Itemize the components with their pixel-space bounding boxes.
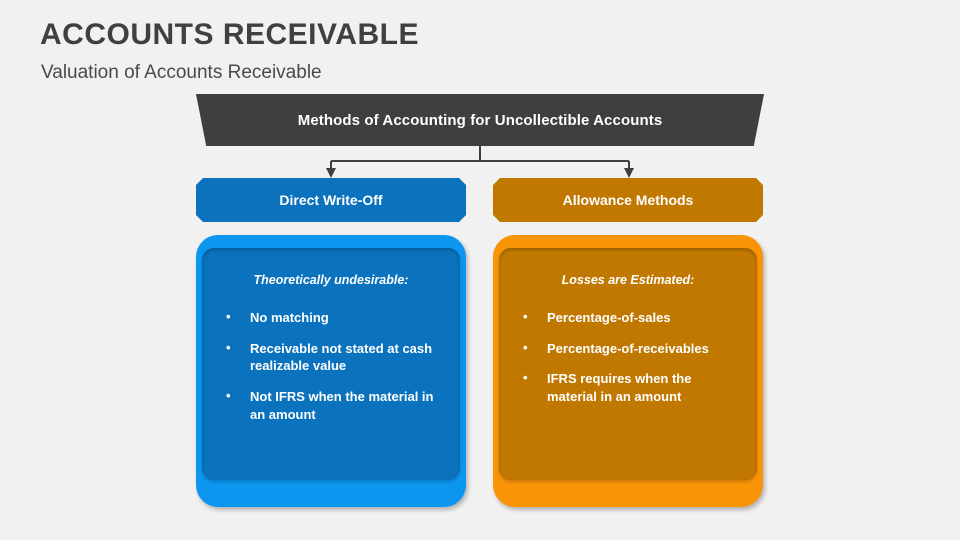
branch-card-heading: Theoretically undesirable: (216, 273, 446, 287)
branch-bullet-list: Percentage-of-sales Percentage-of-receiv… (499, 309, 757, 406)
branch-header-label: Allowance Methods (563, 192, 694, 208)
list-item: Percentage-of-sales (521, 309, 741, 327)
diagram-root-banner-label: Methods of Accounting for Uncollectible … (298, 112, 663, 129)
branch-card-heading: Losses are Estimated: (513, 273, 743, 287)
page-title: ACCOUNTS RECEIVABLE (40, 18, 419, 52)
branch-bullet-list: No matching Receivable not stated at cas… (202, 309, 460, 423)
page-subtitle: Valuation of Accounts Receivable (41, 62, 322, 84)
connector-arrow-right (624, 168, 634, 178)
list-item: Receivable not stated at cash realizable… (224, 340, 444, 375)
list-item: Percentage-of-receivables (521, 340, 741, 358)
list-item: Not IFRS when the material in an amount (224, 388, 444, 423)
branch-card-inner: Losses are Estimated: Percentage-of-sale… (499, 248, 757, 480)
branch-header-allowance-methods[interactable]: Allowance Methods (493, 178, 763, 222)
branch-allowance-methods: Allowance Methods Losses are Estimated: … (493, 178, 763, 507)
branch-card-inner: Theoretically undesirable: No matching R… (202, 248, 460, 480)
branch-header-label: Direct Write-Off (279, 192, 382, 208)
connector-arrow-left (326, 168, 336, 178)
branch-card-allowance-methods[interactable]: Losses are Estimated: Percentage-of-sale… (493, 235, 763, 507)
slide-canvas: ACCOUNTS RECEIVABLE Valuation of Account… (0, 0, 960, 540)
branch-header-direct-write-off[interactable]: Direct Write-Off (196, 178, 466, 222)
list-item: IFRS requires when the material in an am… (521, 370, 741, 405)
branch-direct-write-off: Direct Write-Off Theoretically undesirab… (196, 178, 466, 507)
list-item: No matching (224, 309, 444, 327)
branch-card-direct-write-off[interactable]: Theoretically undesirable: No matching R… (196, 235, 466, 507)
diagram-root-banner[interactable]: Methods of Accounting for Uncollectible … (196, 94, 764, 146)
